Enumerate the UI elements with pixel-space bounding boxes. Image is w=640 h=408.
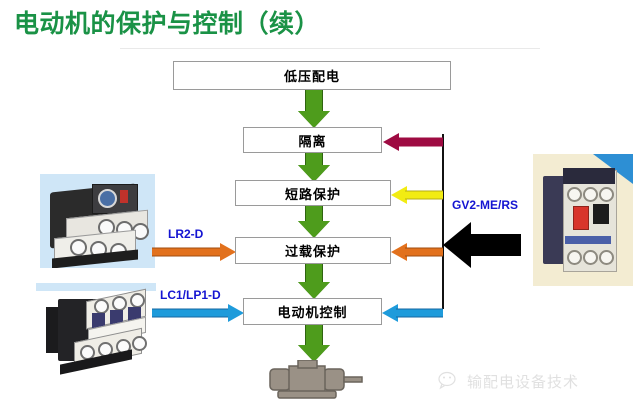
arrow-shaft [152,248,222,257]
side-arrow-overload-feed-right [391,243,443,261]
arrow-head [298,282,330,299]
arrow-head [220,243,236,261]
breaker-stop-button [573,206,589,230]
breaker-top-cover [563,168,615,184]
arrow-head [228,304,244,322]
breaker-start-button [593,204,609,224]
arrow-shaft [305,263,323,282]
photo-contactor [36,283,156,375]
contactor-terminal [112,296,127,311]
contactor-terminal [130,293,145,308]
breaker-terminal [599,187,614,202]
flow-arrow-motor-control-to-motor [296,324,332,362]
contactor-terminal [132,336,147,351]
breaker-terminal [583,187,598,202]
motor-symbol [262,360,368,402]
flow-arrow-overload-to-motor-control [296,263,332,299]
page-title: 电动机的保护与控制（续） [14,8,320,40]
arrow-shaft [397,138,443,147]
arrow-shaft [305,89,323,111]
relay-terminal [70,239,87,256]
flow-arrow-short-circuit-to-overload [296,205,332,238]
flow-box-overload-protection[interactable]: 过载保护 [235,237,391,264]
arrow-head [298,111,330,128]
side-arrow-overload-feed-left [152,243,236,261]
relay-dial [98,189,117,208]
wechat-icon [438,371,460,391]
flow-arrow-distribution-to-isolation [296,89,332,128]
photo-motor-circuit-breaker [533,154,633,286]
arrow-shaft [396,309,443,318]
arrow-shaft [469,234,521,256]
flow-box-short-circuit-protection[interactable]: 短路保护 [235,180,391,206]
side-arrow-isolation-feed [383,133,443,151]
photo-thermal-overload-relay [38,172,157,270]
breaker-brand-strip [565,236,611,244]
arrow-shaft [305,205,323,221]
breaker-terminal [567,187,582,202]
contactor-terminal [94,299,109,314]
arrow-shaft [152,309,230,318]
flow-arrow-isolation-to-short-circuit [296,152,332,181]
side-arrow-motor-control-feed-right [382,304,443,322]
watermark: 输配电设备技术 [438,368,618,394]
label-motor-circuit-breaker: GV2-ME/RS [452,198,518,212]
arrow-shaft [405,191,443,200]
arrow-shaft [305,324,323,345]
arrow-shaft [405,248,443,257]
arrow-shaft [305,152,323,165]
breaker-terminal [599,250,614,265]
side-arrow-short-circuit-feed [391,186,443,204]
arrow-head [298,221,330,238]
breaker-terminal [583,250,598,265]
side-arrow-motor-control-feed-left [152,304,244,322]
breaker-terminal [567,250,582,265]
label-overload-relay: LR2-D [168,227,203,241]
flow-box-motor-control[interactable]: 电动机控制 [243,298,382,325]
breaker-side-body [543,176,565,264]
watermark-text: 输配电设备技术 [467,371,579,392]
breaker-pointer-arrow [443,222,521,268]
arrow-head [443,222,471,268]
relay-reset-button [120,190,128,203]
flow-box-distribution[interactable]: 低压配电 [173,61,451,90]
title-divider [120,48,540,49]
slide-canvas: 电动机的保护与控制（续） [0,0,640,408]
flow-box-isolation[interactable]: 隔离 [243,127,382,153]
label-contactor: LC1/LP1-D [160,288,221,302]
